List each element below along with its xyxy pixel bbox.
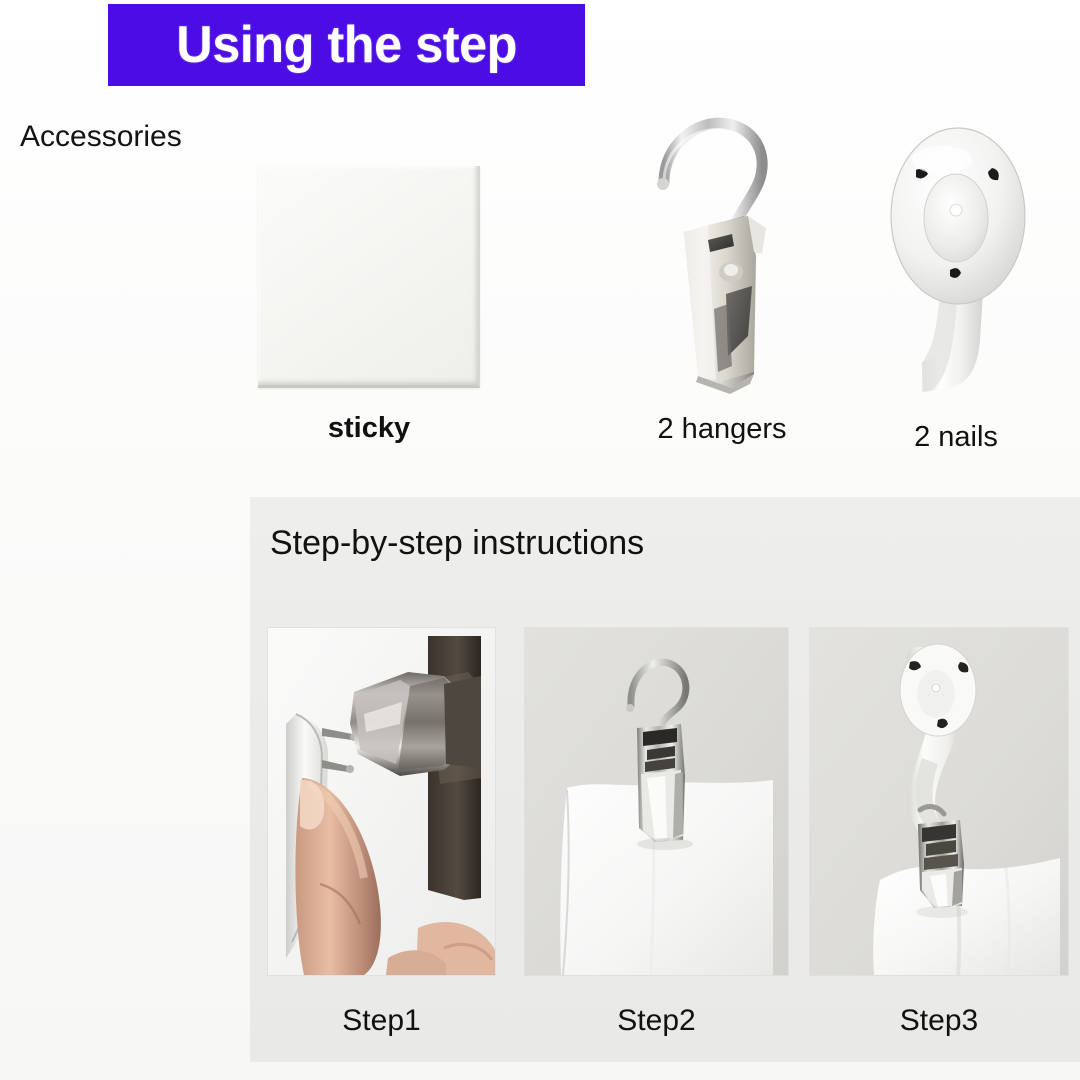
step-photo-3 xyxy=(810,628,1068,975)
accessory-caption-nails: 2 nails xyxy=(866,421,1046,454)
step-caption-1: Step1 xyxy=(268,1004,495,1038)
hook-clip-hanger-icon xyxy=(636,104,812,394)
step-photo-2 xyxy=(525,628,788,975)
adhesive-pad-icon xyxy=(258,166,480,388)
step-caption-3: Step3 xyxy=(810,1004,1068,1038)
step-caption-2: Step2 xyxy=(525,1004,788,1038)
accessories-section-label: Accessories xyxy=(20,120,182,154)
step-photo-1 xyxy=(268,628,495,975)
title-banner: Using the step xyxy=(108,4,585,86)
instructions-heading: Step-by-step instructions xyxy=(270,524,644,563)
page-title: Using the step xyxy=(176,19,517,71)
accessory-caption-hangers: 2 hangers xyxy=(612,413,832,446)
accessory-caption-sticky: sticky xyxy=(258,412,480,445)
product-instruction-infographic: Using the step Accessories sticky xyxy=(0,0,1080,1080)
white-wall-hook-icon xyxy=(876,124,1046,396)
